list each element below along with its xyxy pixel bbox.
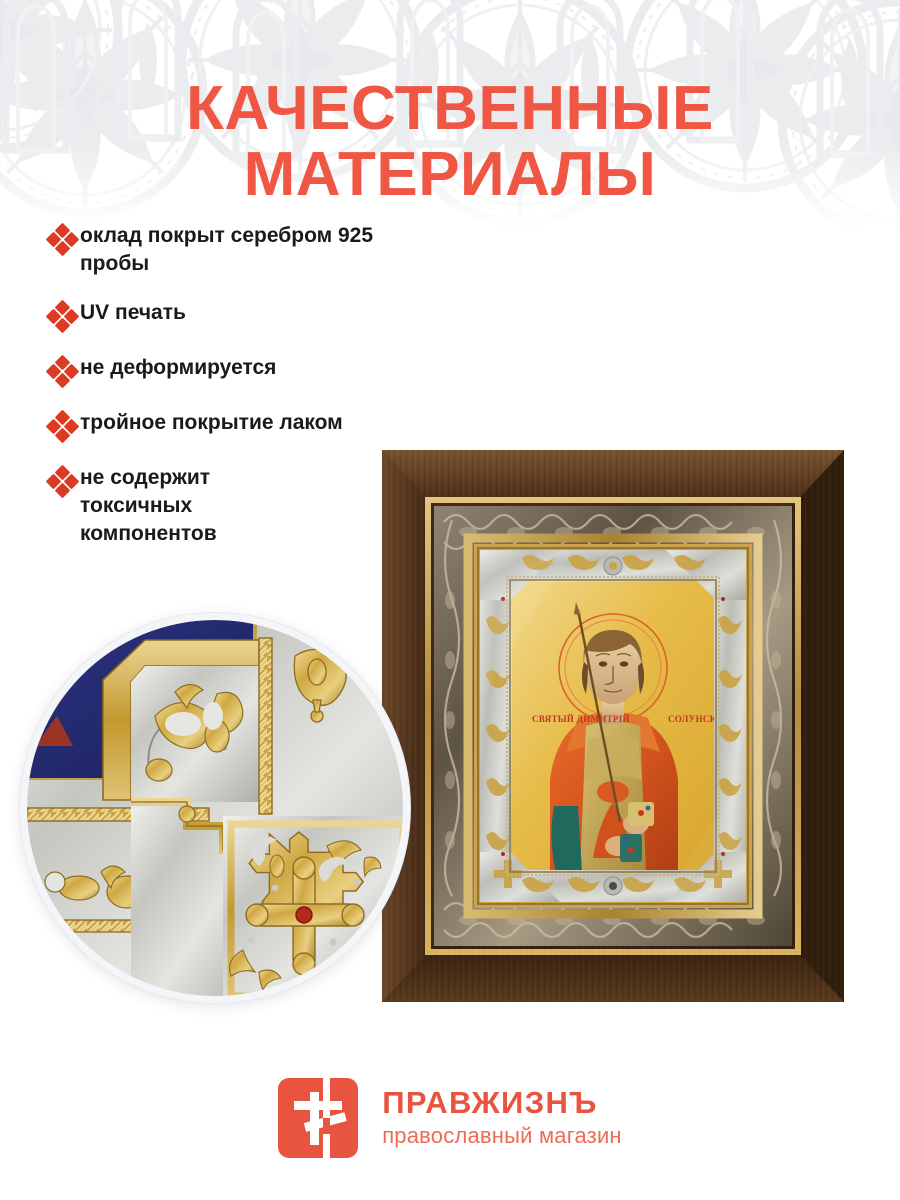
list-item: оклад покрыт серебром 925 пробы	[48, 222, 408, 277]
icon-inscription-left: СВЯТЫЙ ДИМИТРIЙ	[532, 714, 630, 724]
list-item: UV печать	[48, 299, 408, 332]
feature-label: тройное покрытие лаком	[80, 409, 343, 437]
brand-logo[interactable]: ПРАВЖИЗНЪ православный магазин	[0, 1078, 900, 1158]
page-title-line-2: МАТЕРИАЛЫ	[0, 142, 900, 208]
diamond-bullet-icon	[48, 467, 80, 497]
feature-label: UV печать	[80, 299, 186, 327]
logo-text-block: ПРАВЖИЗНЪ православный магазин	[382, 1087, 622, 1150]
list-item: не содержит токсичных компонентов	[48, 464, 408, 547]
logo-tagline: православный магазин	[382, 1123, 622, 1149]
feature-label: оклад покрыт серебром 925 пробы	[80, 222, 408, 277]
list-item: тройное покрытие лаком	[48, 409, 408, 442]
diamond-bullet-icon	[48, 302, 80, 332]
diamond-bullet-icon	[48, 357, 80, 387]
product-photo-framed-icon: СВЯТЫЙ ДИМИТРIЙ СОЛУНСКИЙ	[382, 450, 844, 1002]
orthodox-cross-logo-icon	[278, 1078, 358, 1158]
feature-label: не содержит токсичных компонентов	[80, 464, 295, 547]
diamond-bullet-icon	[48, 225, 80, 255]
list-item: не деформируется	[48, 354, 408, 387]
detail-magnifier-circle	[20, 613, 410, 1003]
features-list: оклад покрыт серебром 925 пробы UV печат…	[48, 222, 408, 548]
feature-label: не деформируется	[80, 354, 276, 382]
page-title: КАЧЕСТВЕННЫЕ МАТЕРИАЛЫ	[0, 76, 900, 209]
diamond-bullet-icon	[48, 412, 80, 442]
logo-brand-name: ПРАВЖИЗНЪ	[382, 1087, 622, 1120]
page-title-line-1: КАЧЕСТВЕННЫЕ	[0, 76, 900, 142]
